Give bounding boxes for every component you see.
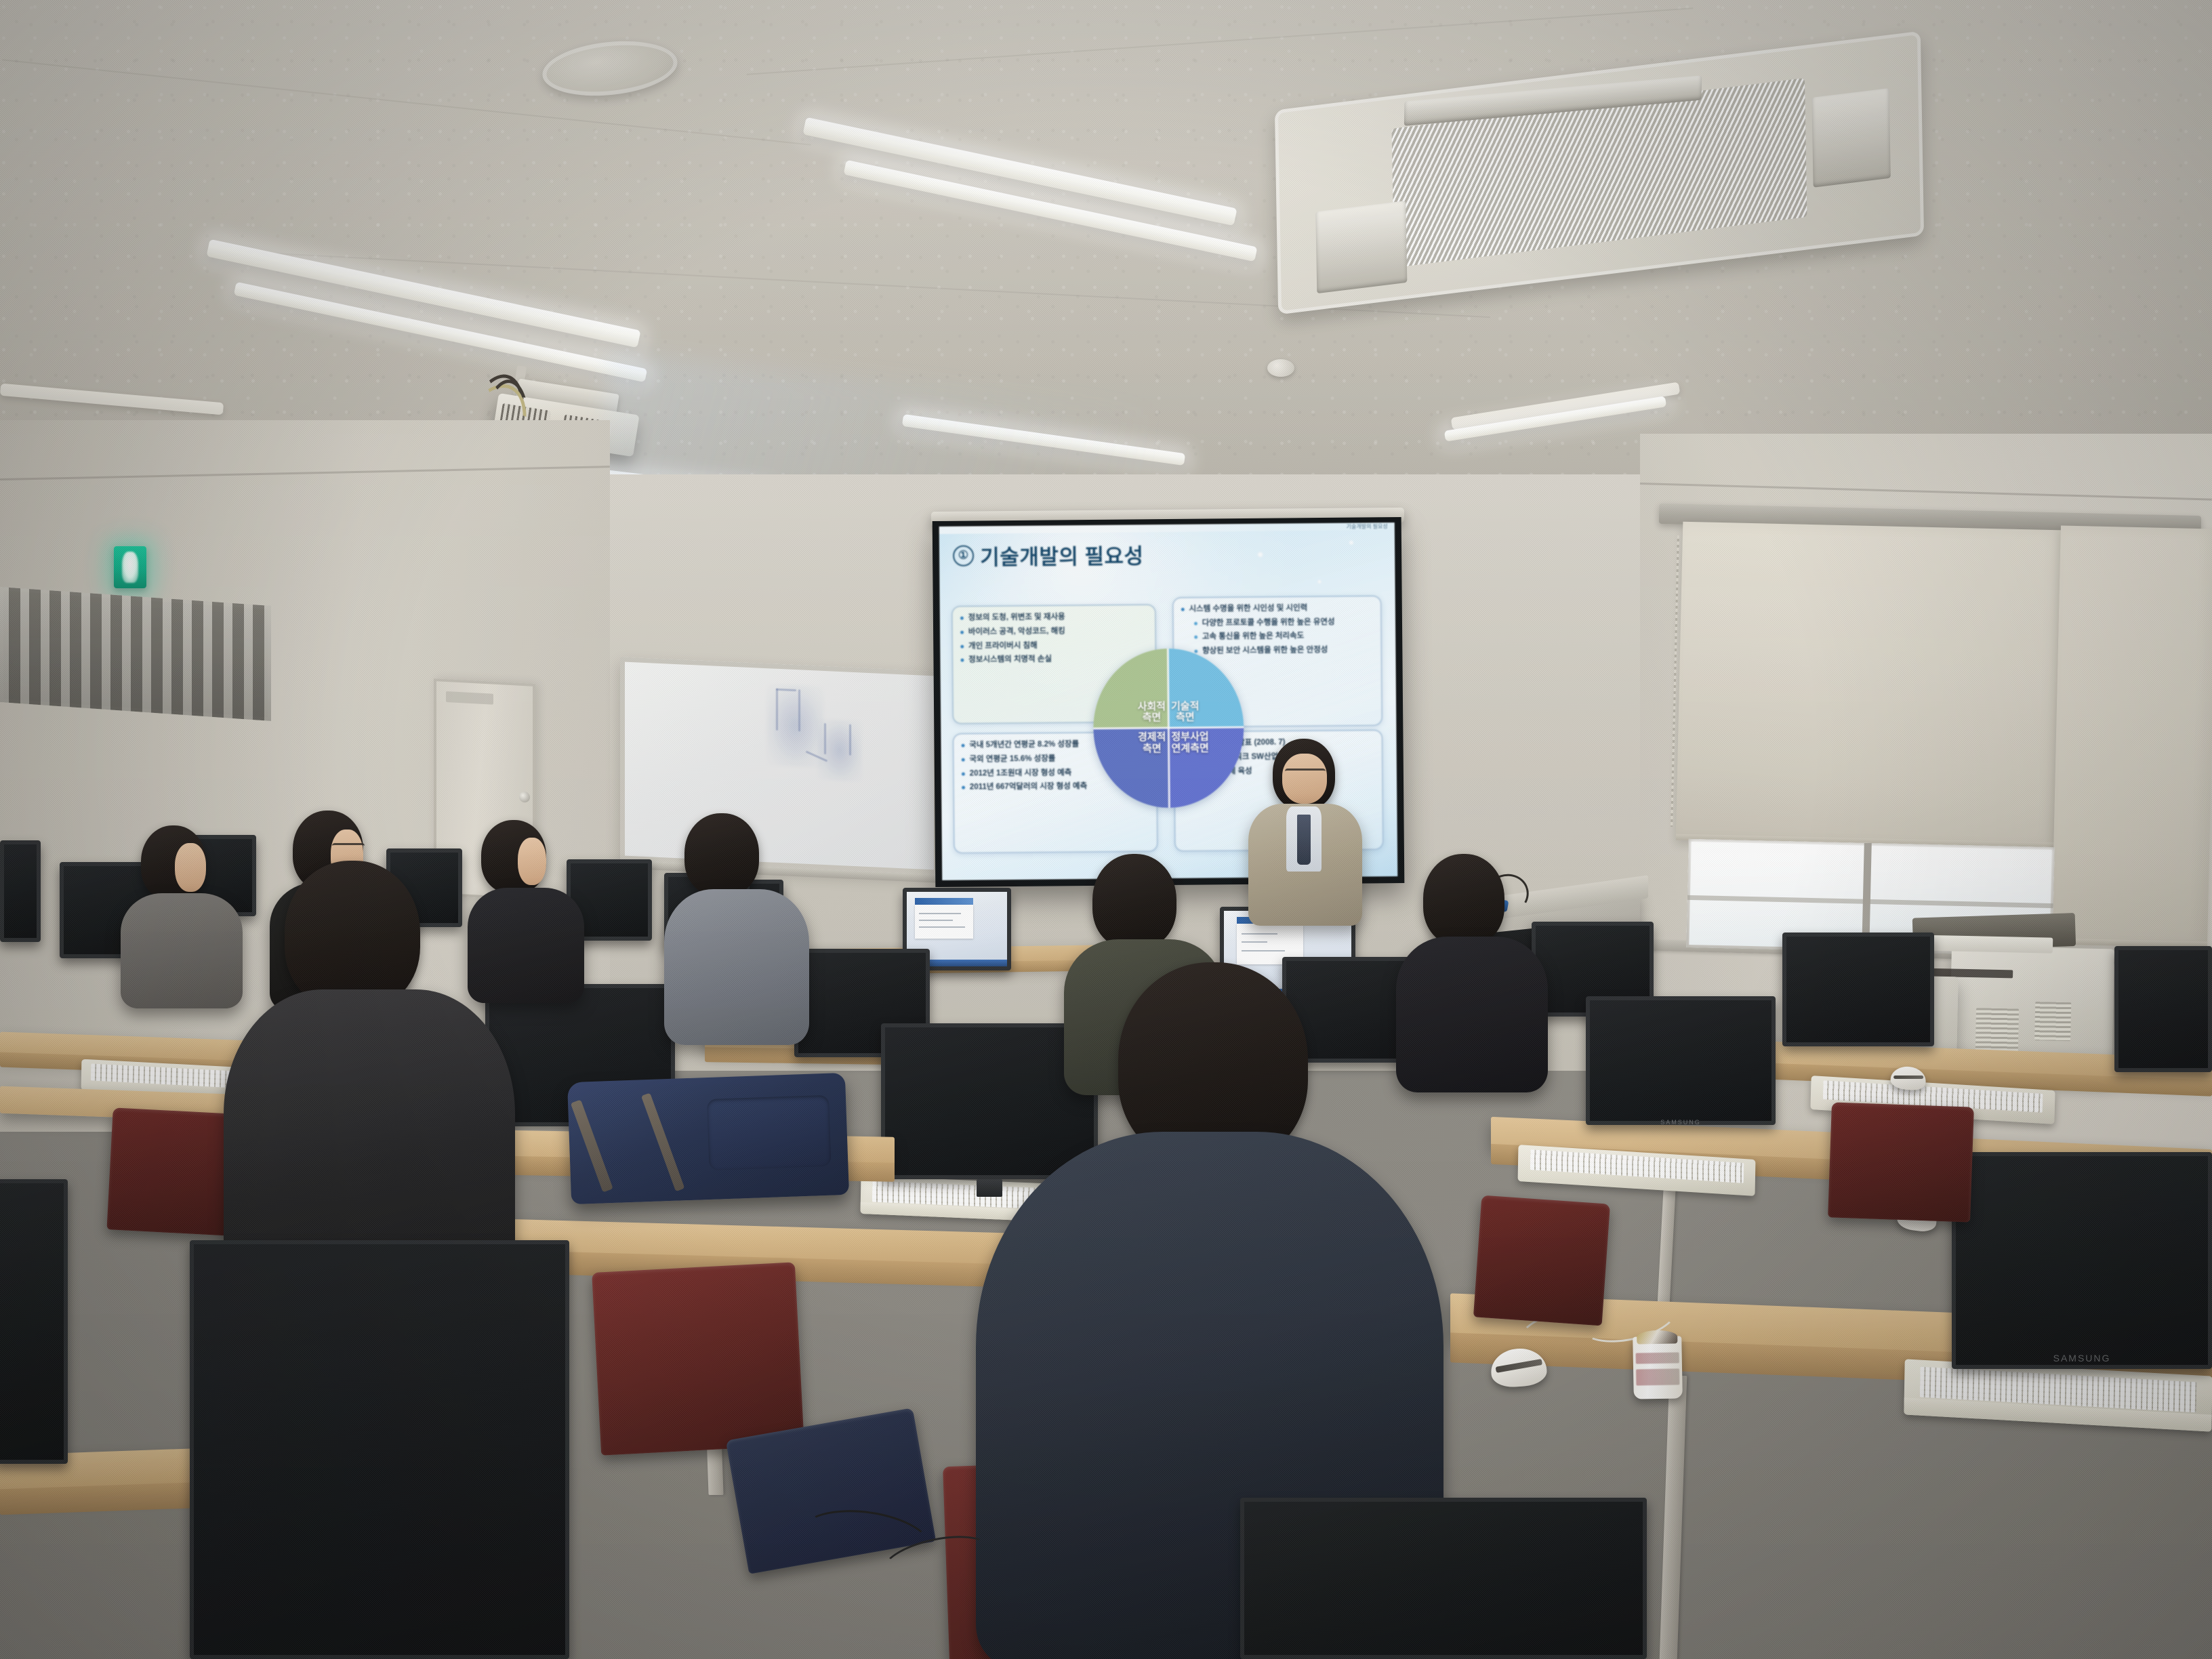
- printer-output-tray: [1919, 935, 2053, 953]
- monitor-foreground-left-edge: [0, 1179, 68, 1464]
- door-sign-plate: [446, 691, 493, 705]
- monitor-screen: [1586, 996, 1776, 1125]
- text-line: [919, 926, 965, 928]
- attendee-head: [141, 825, 206, 900]
- chair-backrest: [592, 1262, 804, 1455]
- emergency-exit-sign: [114, 546, 146, 588]
- whiteboard-stroke: [776, 689, 778, 731]
- monitor: SAMSUNG: [1586, 996, 1776, 1125]
- monitor-foreground-bottom: [1240, 1498, 1647, 1659]
- presenter-face: [1282, 754, 1327, 804]
- attendee-torso: [664, 889, 809, 1045]
- slide-title-number: ①: [953, 545, 974, 566]
- attendee-head: [1423, 854, 1504, 946]
- whiteboard-stroke: [824, 723, 826, 754]
- attendee-head: [684, 813, 759, 896]
- chair[interactable]: [592, 1262, 804, 1455]
- ac-vane: [1811, 88, 1891, 188]
- window-body: [915, 905, 973, 939]
- slide-bullet: 개인 프라이버시 침해: [960, 640, 1149, 652]
- attendee-face: [175, 843, 206, 892]
- monitor-brand-label: SAMSUNG: [1660, 1119, 1701, 1126]
- text-line: [1242, 933, 1277, 935]
- backpack-strap: [570, 1100, 613, 1193]
- backpack[interactable]: [567, 1073, 849, 1204]
- slide-bullet: 다양한 프로토콜 수행을 위한 높은 유연성: [1181, 617, 1374, 629]
- monitor-screen: [2114, 946, 2212, 1072]
- monitor-screen: [1782, 933, 1934, 1046]
- whiteboard-stroke: [798, 689, 800, 731]
- monitor-screen: [1240, 1498, 1647, 1659]
- cup-printed-text: [1636, 1352, 1679, 1364]
- cup-contents: [1637, 1330, 1678, 1344]
- roller-blind-right[interactable]: [2051, 525, 2212, 947]
- backpack-pocket: [707, 1095, 832, 1170]
- slide-bullet: 고속 통신을 위한 높은 처리속도: [1181, 631, 1374, 643]
- monitor-screen: [190, 1240, 569, 1659]
- chair[interactable]: [1828, 1102, 1974, 1222]
- monitor-screen: [0, 1179, 68, 1464]
- monitor: [2114, 946, 2212, 1072]
- whiteboard-stroke: [849, 724, 851, 756]
- slide-bullet: 정보의 도청, 위변조 및 재사용: [960, 612, 1149, 624]
- door-knob[interactable]: [519, 792, 530, 803]
- monitor: [0, 840, 41, 942]
- printer-vent: [2034, 1002, 2071, 1041]
- slide-title-text: 기술개발의 필요성: [980, 539, 1144, 571]
- slide-bullet: 시스템 수명을 위한 시인성 및 시인력: [1180, 602, 1373, 615]
- slide-bullet: 향상된 보안 시스템을 위한 높은 안정성: [1181, 644, 1374, 657]
- monitor-foreground-right: SAMSUNG: [1952, 1152, 2212, 1369]
- slide-bullet: 정보시스템의 치명적 손실: [960, 654, 1149, 666]
- slide-sparkle: [1349, 541, 1353, 545]
- paper-cup[interactable]: [1633, 1336, 1683, 1399]
- eyeglasses-icon: [1285, 769, 1326, 775]
- slide-bullet-list-social: 정보의 도청, 위변조 및 재사용 바이러스 공격, 악성코드, 해킹 개인 프…: [960, 612, 1149, 666]
- monitor: [1782, 933, 1934, 1046]
- slide-bullet: 바이러스 공격, 악성코드, 해킹: [960, 626, 1149, 638]
- window-titlebar: [915, 898, 973, 905]
- mouse-scroll-split: [1495, 1359, 1542, 1373]
- slide-title: ① 기술개발의 필요성: [953, 539, 1144, 571]
- presenter: [1244, 739, 1366, 922]
- chair-backrest: [1828, 1102, 1974, 1222]
- attendee-head: [285, 861, 420, 1010]
- desk-leg: [1660, 1376, 1687, 1659]
- mouse-scroll-split: [1893, 1076, 1923, 1079]
- louver-shade: [0, 587, 271, 721]
- cup-printed-graphic: [1636, 1368, 1679, 1385]
- presenter-tie: [1297, 815, 1311, 865]
- chair-backrest: [1473, 1195, 1610, 1326]
- text-line: [919, 913, 961, 914]
- monitor-foreground-left: [190, 1240, 569, 1659]
- text-line: [1242, 941, 1267, 943]
- attendee-head: [1092, 854, 1176, 949]
- monitor-screen: [1952, 1152, 2212, 1369]
- chair[interactable]: [1473, 1195, 1610, 1326]
- eyeglasses-icon: [332, 843, 365, 850]
- backpack-strap: [641, 1092, 684, 1191]
- text-line: [919, 920, 953, 921]
- roller-blind-left[interactable]: [1676, 522, 2063, 849]
- attendee-mid-center: [664, 813, 813, 1037]
- wall-louver-window: [0, 587, 271, 721]
- presenter-head: [1273, 739, 1335, 809]
- classroom-photo: 기술개발의 필요성 ① 기술개발의 필요성 정보의 도청, 위변조 및 재사용 …: [0, 0, 2212, 1659]
- monitor-screen: [0, 840, 41, 942]
- slide-bullet-list-technical: 시스템 수명을 위한 시인성 및 시인력 다양한 프로토콜 수행을 위한 높은 …: [1180, 602, 1374, 657]
- slide-center-wheel: 사회적측면 기술적측면 경제적측면 정부사업연계측면: [1092, 648, 1244, 808]
- text-line: [1242, 950, 1285, 951]
- slide-sparkle: [1317, 580, 1321, 583]
- smoke-detector: [1267, 359, 1294, 377]
- ac-vane: [1315, 201, 1407, 293]
- exit-running-man-icon: [122, 552, 138, 583]
- monitor-brand-label: SAMSUNG: [2053, 1353, 2111, 1364]
- attendee-face: [518, 838, 546, 885]
